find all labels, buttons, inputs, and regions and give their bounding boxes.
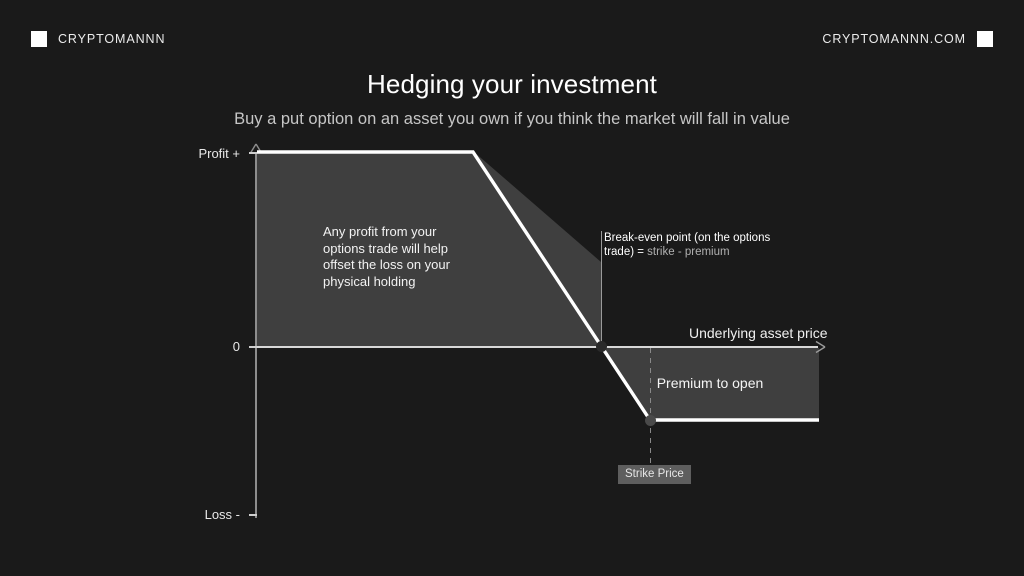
y-tick-zero: [249, 346, 257, 348]
break-even-reference-line: [601, 231, 602, 347]
y-tick-loss: [249, 514, 257, 516]
x-axis: [256, 346, 818, 348]
strike-price-badge: Strike Price: [618, 465, 691, 484]
premium-region-annotation: Premium to open: [601, 375, 819, 391]
y-axis-arrow-icon: [249, 143, 263, 157]
payoff-chart: Profit + 0 Loss - Underlying asset price…: [0, 0, 1024, 576]
y-tick-profit: [249, 152, 257, 154]
y-axis-label-zero: 0: [233, 339, 240, 354]
y-axis-label-profit: Profit +: [198, 146, 240, 161]
profit-region-annotation: Any profit from your options trade will …: [323, 224, 473, 290]
x-axis-arrow-icon: [812, 340, 826, 354]
x-axis-label: Underlying asset price: [689, 325, 828, 341]
slide-canvas: CRYPTOMANNN CRYPTOMANNN.COM Hedging your…: [0, 0, 1024, 576]
break-even-annotation-formula: strike - premium: [647, 246, 729, 258]
y-axis: [255, 152, 257, 518]
break-even-marker: [596, 341, 607, 352]
strike-price-reference-line: [650, 348, 651, 466]
strike-price-marker: [645, 415, 656, 426]
break-even-annotation: Break-even point (on the options trade) …: [604, 231, 784, 259]
y-axis-label-loss: Loss -: [205, 507, 240, 522]
